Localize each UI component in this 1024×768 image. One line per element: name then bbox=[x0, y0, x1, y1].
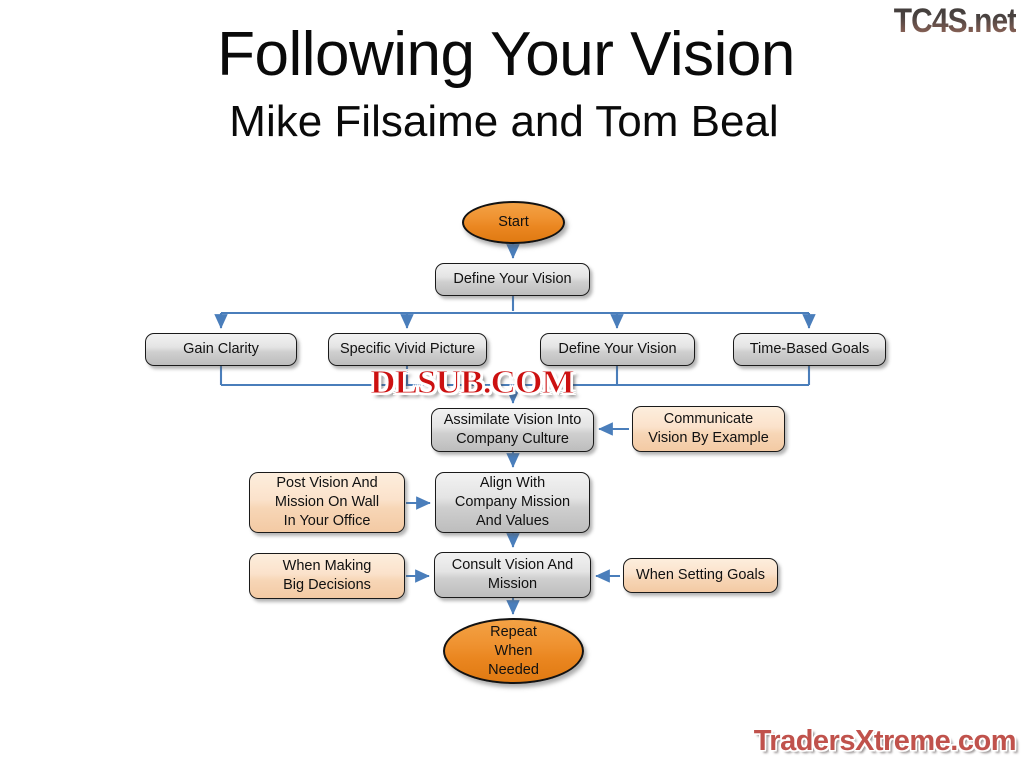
node-time-based-goals-label: Time-Based Goals bbox=[734, 340, 885, 359]
watermark-dlsub: DLSUB.COM bbox=[370, 364, 574, 402]
node-repeat-when-needed[interactable]: RepeatWhenNeeded bbox=[443, 618, 584, 684]
node-specific-vivid-picture-label: Specific Vivid Picture bbox=[329, 340, 486, 359]
node-consult-vision-and-mission-label: Consult Vision AndMission bbox=[435, 556, 590, 594]
node-post-vision[interactable]: Post Vision AndMission On WallIn Your Of… bbox=[249, 472, 405, 533]
node-assimilate-vision-label: Assimilate Vision IntoCompany Culture bbox=[432, 411, 593, 449]
node-align-with-company-mission[interactable]: Align WithCompany MissionAnd Values bbox=[435, 472, 590, 533]
node-repeat-when-needed-label: RepeatWhenNeeded bbox=[445, 623, 582, 680]
node-when-setting-goals-label: When Setting Goals bbox=[624, 566, 777, 585]
node-define-your-vision-1[interactable]: Define Your Vision bbox=[435, 263, 590, 296]
node-when-setting-goals[interactable]: When Setting Goals bbox=[623, 558, 778, 593]
node-when-making-big-decisions-label: When MakingBig Decisions bbox=[250, 557, 404, 595]
node-communicate-vision-label: CommunicateVision By Example bbox=[633, 410, 784, 448]
node-start-label: Start bbox=[464, 213, 563, 232]
node-define-your-vision-2-label: Define Your Vision bbox=[541, 340, 694, 359]
node-communicate-vision[interactable]: CommunicateVision By Example bbox=[632, 406, 785, 452]
node-when-making-big-decisions[interactable]: When MakingBig Decisions bbox=[249, 553, 405, 599]
watermark-tradersxtreme: TradersXtreme.com bbox=[754, 725, 1016, 758]
slide-canvas: Following Your Vision Mike Filsaime and … bbox=[0, 0, 1024, 768]
node-start[interactable]: Start bbox=[462, 201, 565, 244]
node-define-your-vision-1-label: Define Your Vision bbox=[436, 270, 589, 289]
node-consult-vision-and-mission[interactable]: Consult Vision AndMission bbox=[434, 552, 591, 598]
node-gain-clarity[interactable]: Gain Clarity bbox=[145, 333, 297, 366]
node-define-your-vision-2[interactable]: Define Your Vision bbox=[540, 333, 695, 366]
node-time-based-goals[interactable]: Time-Based Goals bbox=[733, 333, 886, 366]
node-assimilate-vision[interactable]: Assimilate Vision IntoCompany Culture bbox=[431, 408, 594, 452]
node-gain-clarity-label: Gain Clarity bbox=[146, 340, 296, 359]
node-specific-vivid-picture[interactable]: Specific Vivid Picture bbox=[328, 333, 487, 366]
node-post-vision-label: Post Vision AndMission On WallIn Your Of… bbox=[250, 474, 404, 531]
node-align-with-company-mission-label: Align WithCompany MissionAnd Values bbox=[436, 474, 589, 531]
